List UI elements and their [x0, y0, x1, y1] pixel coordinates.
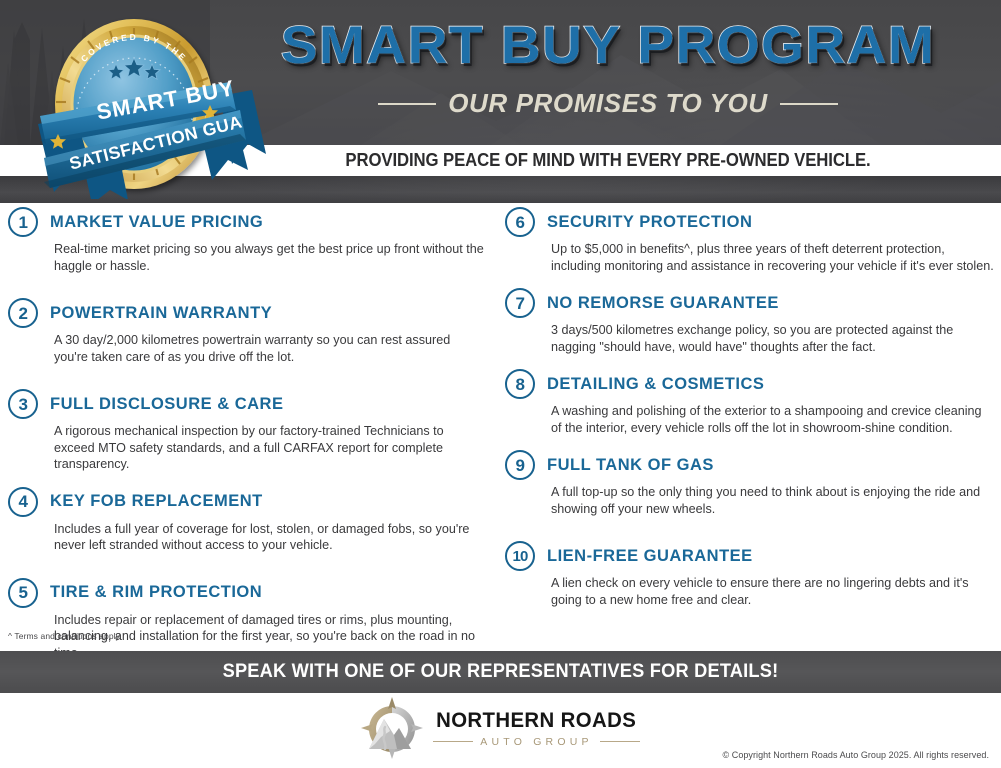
smart-buy-program-flyer: SMART BUY PROGRAM OUR PROMISES TO YOU PR… — [0, 0, 1001, 768]
promise-item-5: 5 TIRE & RIM PROTECTION Includes repair … — [8, 576, 498, 662]
logo-name: NORTHERN ROADS — [436, 709, 636, 733]
promise-title-1: MARKET VALUE PRICING — [50, 213, 263, 232]
promise-number-9: 9 — [505, 450, 535, 480]
promise-header-8: 8 DETAILING & COSMETICS — [505, 367, 995, 401]
promise-title-9: FULL TANK OF GAS — [547, 456, 714, 475]
satisfaction-guarantee-badge: COVERED BY THE SMART BUY — [24, 4, 274, 199]
promise-item-4: 4 KEY FOB REPLACEMENT Includes a full ye… — [8, 485, 498, 554]
promise-header-4: 4 KEY FOB REPLACEMENT — [8, 485, 498, 519]
promise-number-7: 7 — [505, 288, 535, 318]
terms-disclaimer: ^ Terms and conditions apply. — [8, 631, 122, 641]
promise-item-7: 7 NO REMORSE GUARANTEE 3 days/500 kilome… — [505, 286, 995, 355]
promise-title-2: POWERTRAIN WARRANTY — [50, 304, 272, 323]
cta-text: SPEAK WITH ONE OF OUR REPRESENTATIVES FO… — [223, 661, 779, 683]
promise-header-3: 3 FULL DISCLOSURE & CARE — [8, 387, 498, 421]
promise-header-5: 5 TIRE & RIM PROTECTION — [8, 576, 498, 610]
promise-number-3: 3 — [8, 389, 38, 419]
rule-right — [780, 103, 838, 105]
logo-wordmark: NORTHERN ROADS AUTO GROUP — [433, 709, 639, 748]
promise-body-10: A lien check on every vehicle to ensure … — [551, 575, 995, 608]
promise-header-6: 6 SECURITY PROTECTION — [505, 205, 995, 239]
promise-body-2: A 30 day/2,000 kilometres powertrain war… — [54, 332, 484, 365]
promise-item-6: 6 SECURITY PROTECTION Up to $5,000 in be… — [505, 205, 995, 274]
promise-number-5: 5 — [8, 578, 38, 608]
cta-bar: SPEAK WITH ONE OF OUR REPRESENTATIVES FO… — [0, 651, 1001, 693]
promise-title-5: TIRE & RIM PROTECTION — [50, 583, 262, 602]
promise-title-10: LIEN-FREE GUARANTEE — [547, 547, 753, 566]
promise-number-2: 2 — [8, 298, 38, 328]
promises-column-left: 1 MARKET VALUE PRICING Real-time market … — [8, 203, 498, 673]
logo-rule-right — [600, 741, 640, 742]
promise-title-3: FULL DISCLOSURE & CARE — [50, 395, 283, 414]
rule-left — [378, 103, 436, 105]
promise-item-2: 2 POWERTRAIN WARRANTY A 30 day/2,000 kil… — [8, 296, 498, 365]
hero-subtitle: OUR PROMISES TO YOU — [448, 88, 768, 119]
footer: NORTHERN ROADS AUTO GROUP © Copyright No… — [0, 693, 1001, 768]
promise-title-8: DETAILING & COSMETICS — [547, 375, 764, 394]
promise-body-4: Includes a full year of coverage for los… — [54, 521, 484, 554]
promise-title-7: NO REMORSE GUARANTEE — [547, 294, 779, 313]
promise-item-1: 1 MARKET VALUE PRICING Real-time market … — [8, 205, 498, 274]
promise-body-7: 3 days/500 kilometres exchange policy, s… — [551, 322, 995, 355]
logo-subtitle-row: AUTO GROUP — [433, 736, 639, 748]
promise-number-1: 1 — [8, 207, 38, 237]
promise-title-6: SECURITY PROTECTION — [547, 213, 752, 232]
promise-header-7: 7 NO REMORSE GUARANTEE — [505, 286, 995, 320]
logo-subtitle: AUTO GROUP — [480, 736, 592, 748]
copyright-text: © Copyright Northern Roads Auto Group 20… — [723, 750, 989, 760]
promise-header-10: 10 LIEN-FREE GUARANTEE — [505, 539, 995, 573]
promise-header-2: 2 POWERTRAIN WARRANTY — [8, 296, 498, 330]
promise-number-6: 6 — [505, 207, 535, 237]
promise-number-8: 8 — [505, 369, 535, 399]
logo-rule-left — [433, 741, 473, 742]
promise-item-8: 8 DETAILING & COSMETICS A washing and po… — [505, 367, 995, 436]
promise-item-3: 3 FULL DISCLOSURE & CARE A rigorous mech… — [8, 387, 498, 473]
promises-section: 1 MARKET VALUE PRICING Real-time market … — [0, 203, 1001, 628]
promises-column-right: 6 SECURITY PROTECTION Up to $5,000 in be… — [505, 203, 995, 620]
promise-body-9: A full top-up so the only thing you need… — [551, 484, 995, 517]
page-title: SMART BUY PROGRAM — [213, 16, 1001, 76]
promise-item-9: 9 FULL TANK OF GAS A full top-up so the … — [505, 448, 995, 517]
promise-number-4: 4 — [8, 487, 38, 517]
promise-body-1: Real-time market pricing so you always g… — [54, 241, 484, 274]
tagline-text: PROVIDING PEACE OF MIND WITH EVERY PRE-O… — [255, 150, 962, 171]
promise-number-10: 10 — [505, 541, 535, 571]
promise-body-6: Up to $5,000 in benefits^, plus three ye… — [551, 241, 995, 274]
promise-item-10: 10 LIEN-FREE GUARANTEE A lien check on e… — [505, 539, 995, 608]
promise-header-9: 9 FULL TANK OF GAS — [505, 448, 995, 482]
promise-body-3: A rigorous mechanical inspection by our … — [54, 423, 484, 473]
hero-subtitle-group: OUR PROMISES TO YOU — [228, 88, 988, 119]
promise-title-4: KEY FOB REPLACEMENT — [50, 492, 263, 511]
mountain-compass-logo-icon — [361, 697, 423, 759]
promise-body-8: A washing and polishing of the exterior … — [551, 403, 995, 436]
promise-header-1: 1 MARKET VALUE PRICING — [8, 205, 498, 239]
